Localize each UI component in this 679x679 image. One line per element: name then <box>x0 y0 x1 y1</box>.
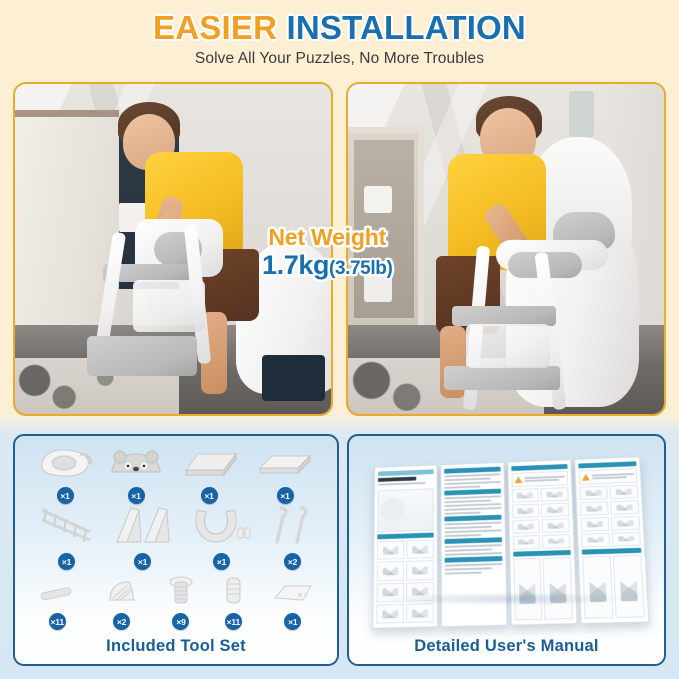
part-potty-seat-ring: ×1 <box>36 446 94 504</box>
manual-step-cell <box>610 500 639 515</box>
net-weight-kg: 1.7kg <box>262 250 329 280</box>
part-qty: ×2 <box>284 553 301 570</box>
manual-text-line <box>444 507 501 511</box>
part-qty: ×11 <box>49 613 66 630</box>
part-ladder-frame: ×1 <box>38 506 96 570</box>
manual-band <box>578 461 636 468</box>
manual-band <box>377 533 433 540</box>
manual-cell <box>406 560 434 580</box>
manual-step-cell <box>581 532 610 547</box>
screw-icon <box>35 580 79 611</box>
parts-row: ×1 ×1 <box>23 504 329 570</box>
bear-backrest-icon <box>108 446 164 485</box>
part-qty: ×11 <box>225 613 242 630</box>
potty-seat-ring-icon <box>36 446 94 485</box>
manual-warning-lines <box>523 476 564 482</box>
net-weight-value: 1.7kg(3.75lb) <box>262 252 392 279</box>
manual-band <box>510 464 567 471</box>
part-u-shaped-seat-ring: ×1 <box>190 504 254 570</box>
part-qty: ×1 <box>134 553 151 570</box>
manual-step-cell <box>610 516 639 531</box>
title-word-installation: INSTALLATION <box>286 9 525 46</box>
sleeve-icon <box>218 574 248 611</box>
manual-cover-title <box>377 477 416 482</box>
part-upper-step-platform: ×1 <box>178 448 240 504</box>
part-sleeve-pack: ×11 <box>218 574 248 630</box>
manual-step-cell <box>542 556 573 619</box>
manual-shadow <box>382 592 632 606</box>
manual-warning-box <box>510 471 568 488</box>
manual-step-cell <box>541 518 569 533</box>
manual-step-cell <box>511 519 539 534</box>
manual-text-line <box>444 563 502 567</box>
toilet-paper-roll <box>364 186 392 212</box>
manual-text-line <box>444 495 501 499</box>
manual-step-cell <box>611 531 640 546</box>
manual-text-line <box>444 486 480 489</box>
part-qty: ×2 <box>113 613 130 630</box>
manual-text-line <box>444 552 501 556</box>
part-qty: ×9 <box>172 613 189 630</box>
product-photo-right <box>346 82 666 416</box>
manual-text-line <box>443 473 499 477</box>
warning-triangle-icon <box>581 474 589 481</box>
manual-cell <box>376 561 403 581</box>
manual-step-cell <box>609 485 638 500</box>
part-qty: ×1 <box>277 487 294 504</box>
parts-row: ×1 ×1 <box>23 442 329 504</box>
manual-step-cell <box>580 501 609 516</box>
manual-band <box>444 489 500 496</box>
manual-step-cell <box>541 502 569 517</box>
manual-text-line <box>592 476 627 479</box>
part-qty: ×1 <box>284 613 301 630</box>
u-shaped-seat-ring-icon <box>190 504 254 551</box>
manual-step-cell <box>512 557 542 620</box>
manual-warning-box <box>578 468 637 485</box>
manual-text-line <box>523 479 558 482</box>
part-qty: ×1 <box>57 487 74 504</box>
part-qty: ×1 <box>128 487 145 504</box>
manual-cell <box>376 540 403 560</box>
manual-band <box>378 469 433 476</box>
toilet-base <box>262 355 325 401</box>
part-side-support-frames: ×1 <box>113 504 173 570</box>
manual-step-cell <box>582 555 613 619</box>
manual-steps-grid <box>512 556 573 620</box>
ladder-frame-icon <box>38 506 96 551</box>
manual-text-line <box>444 572 481 575</box>
manual-band <box>443 467 499 474</box>
manual-text-line <box>444 567 492 570</box>
upper-step <box>452 306 556 326</box>
side-support-frames-icon <box>113 504 173 551</box>
part-hex-key-plate: ×1 <box>269 580 317 630</box>
toilet-paper-roll <box>364 275 392 301</box>
manual-band <box>444 515 501 522</box>
manual-text-line <box>444 529 501 533</box>
title-word-easier: EASIER <box>153 9 277 46</box>
folding-brace <box>466 324 550 368</box>
manual-step-cell <box>511 504 539 518</box>
manual-band <box>444 537 501 544</box>
manual-cell <box>406 539 433 559</box>
manual-text-line <box>444 526 492 530</box>
manual-cover-image <box>377 488 433 532</box>
part-bear-backrest: ×1 <box>108 446 164 504</box>
lower-step <box>87 336 197 376</box>
manual-illustration-wrap <box>361 448 652 636</box>
manual-text-line <box>444 522 501 526</box>
hex-key-plate-icon <box>269 580 317 611</box>
manual-steps-grid <box>579 485 640 548</box>
user-manual-caption: Detailed User's Manual <box>349 637 664 656</box>
bolt-icon <box>164 574 198 611</box>
manual-steps-grid <box>511 487 570 549</box>
long-rods-icon <box>271 504 315 551</box>
lower-step <box>444 366 560 390</box>
subtitle: Solve All Your Puzzles, No More Troubles <box>0 50 679 68</box>
part-qty: ×1 <box>58 553 75 570</box>
parts-row: ×11 ×2 <box>23 570 329 630</box>
washer-icon <box>100 578 144 611</box>
part-qty: ×1 <box>201 487 218 504</box>
manual-step-cell <box>511 488 539 502</box>
manual-step-cell <box>580 517 609 532</box>
user-manual-panel: Detailed User's Manual <box>347 434 666 666</box>
manual-text-line <box>444 500 491 504</box>
parts-grid: ×1 ×1 <box>23 442 329 632</box>
manual-parts-grid <box>376 539 433 623</box>
header: EASIER INSTALLATION Solve All Your Puzzl… <box>0 0 679 76</box>
manual-text-line <box>444 534 480 537</box>
manual-step-cell <box>542 534 571 549</box>
manual-band <box>582 547 641 554</box>
manual-step-cell <box>540 487 568 501</box>
manual-text-line <box>444 512 480 515</box>
part-qty: ×1 <box>213 553 230 570</box>
manual-text-line <box>444 481 500 485</box>
net-weight-callout: Net Weight 1.7kg(3.75lb) <box>262 226 392 279</box>
manual-step-cell <box>579 486 608 501</box>
manual-cover-subtitle <box>377 482 425 486</box>
part-washer-pack: ×2 <box>100 578 144 630</box>
page-title: EASIER INSTALLATION <box>0 8 679 48</box>
part-long-rods: ×2 <box>271 504 315 570</box>
hanging-towel <box>569 91 594 137</box>
manual-band <box>512 549 570 556</box>
part-bolt-pack: ×9 <box>164 574 198 630</box>
manual-step-cell <box>612 554 644 618</box>
manual-cell <box>405 603 433 623</box>
net-weight-label: Net Weight <box>262 226 392 249</box>
folding-brace <box>133 280 205 332</box>
manual-text-line <box>444 548 492 551</box>
lower-step-platform-icon <box>254 448 316 485</box>
product-infographic: EASIER INSTALLATION Solve All Your Puzzl… <box>0 0 679 679</box>
manual-band <box>444 556 501 563</box>
manual-steps-grid <box>582 554 645 618</box>
upper-step-platform-icon <box>178 448 240 485</box>
manual-step-cell <box>512 535 540 550</box>
included-tools-panel: ×1 ×1 <box>13 434 339 666</box>
net-weight-lb: (3.75lb) <box>329 258 392 279</box>
included-tools-caption: Included Tool Set <box>15 637 337 656</box>
manual-cell <box>376 604 404 624</box>
part-screw-pack: ×11 <box>35 580 79 630</box>
manual-text-line <box>444 544 501 548</box>
manual-warning-lines <box>591 473 633 479</box>
bathroom-scene-right <box>348 84 664 414</box>
part-lower-step-platform: ×1 <box>254 448 316 504</box>
warning-triangle-icon <box>513 476 521 483</box>
